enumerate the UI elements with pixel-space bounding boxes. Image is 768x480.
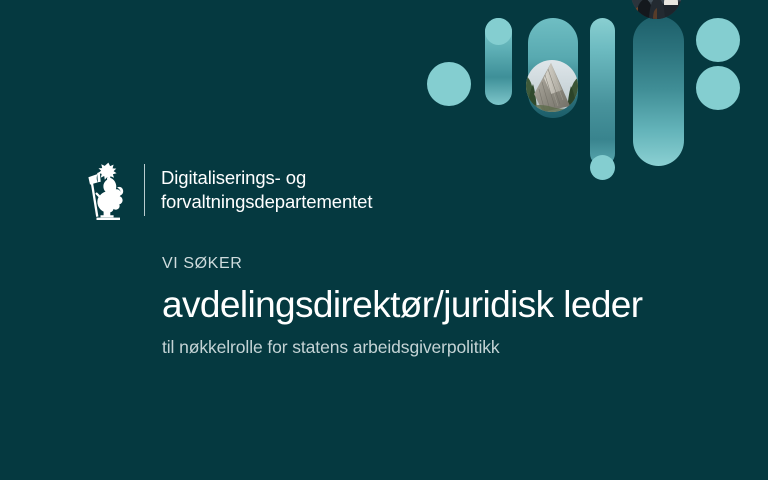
department-logo-lockup: Digitaliserings- og forvaltningsdepartem… <box>84 157 372 223</box>
circle-solid-left <box>427 62 471 106</box>
photo-building-roof <box>526 60 578 112</box>
decorative-shape-cluster <box>410 0 768 230</box>
photo-meeting-room <box>631 0 682 19</box>
pill-large-gradient <box>633 16 684 166</box>
pill-tall-narrow <box>590 18 615 166</box>
recruitment-poster: Digitaliserings- og forvaltningsdepartem… <box>0 0 768 480</box>
job-title: avdelingsdirektør/juridisk leder <box>162 285 762 325</box>
pill-tall-narrow-bottom-circle <box>590 155 615 180</box>
circle-solid-upper-right <box>696 18 740 62</box>
department-name-line2: forvaltningsdepartementet <box>161 190 372 214</box>
circle-solid-lower-right <box>696 66 740 110</box>
logo-divider <box>144 164 145 216</box>
job-advert-copy: VI SØKER avdelingsdirektør/juridisk lede… <box>162 256 762 358</box>
norwegian-coat-of-arms-icon <box>84 157 132 223</box>
job-subtitle: til nøkkelrolle for statens arbeidsgiver… <box>162 337 762 358</box>
pill-cap-gradient-top-circle <box>485 18 512 45</box>
eyebrow-label: VI SØKER <box>162 256 762 272</box>
department-name: Digitaliserings- og forvaltningsdepartem… <box>161 166 372 213</box>
department-name-line1: Digitaliserings- og <box>161 166 372 190</box>
